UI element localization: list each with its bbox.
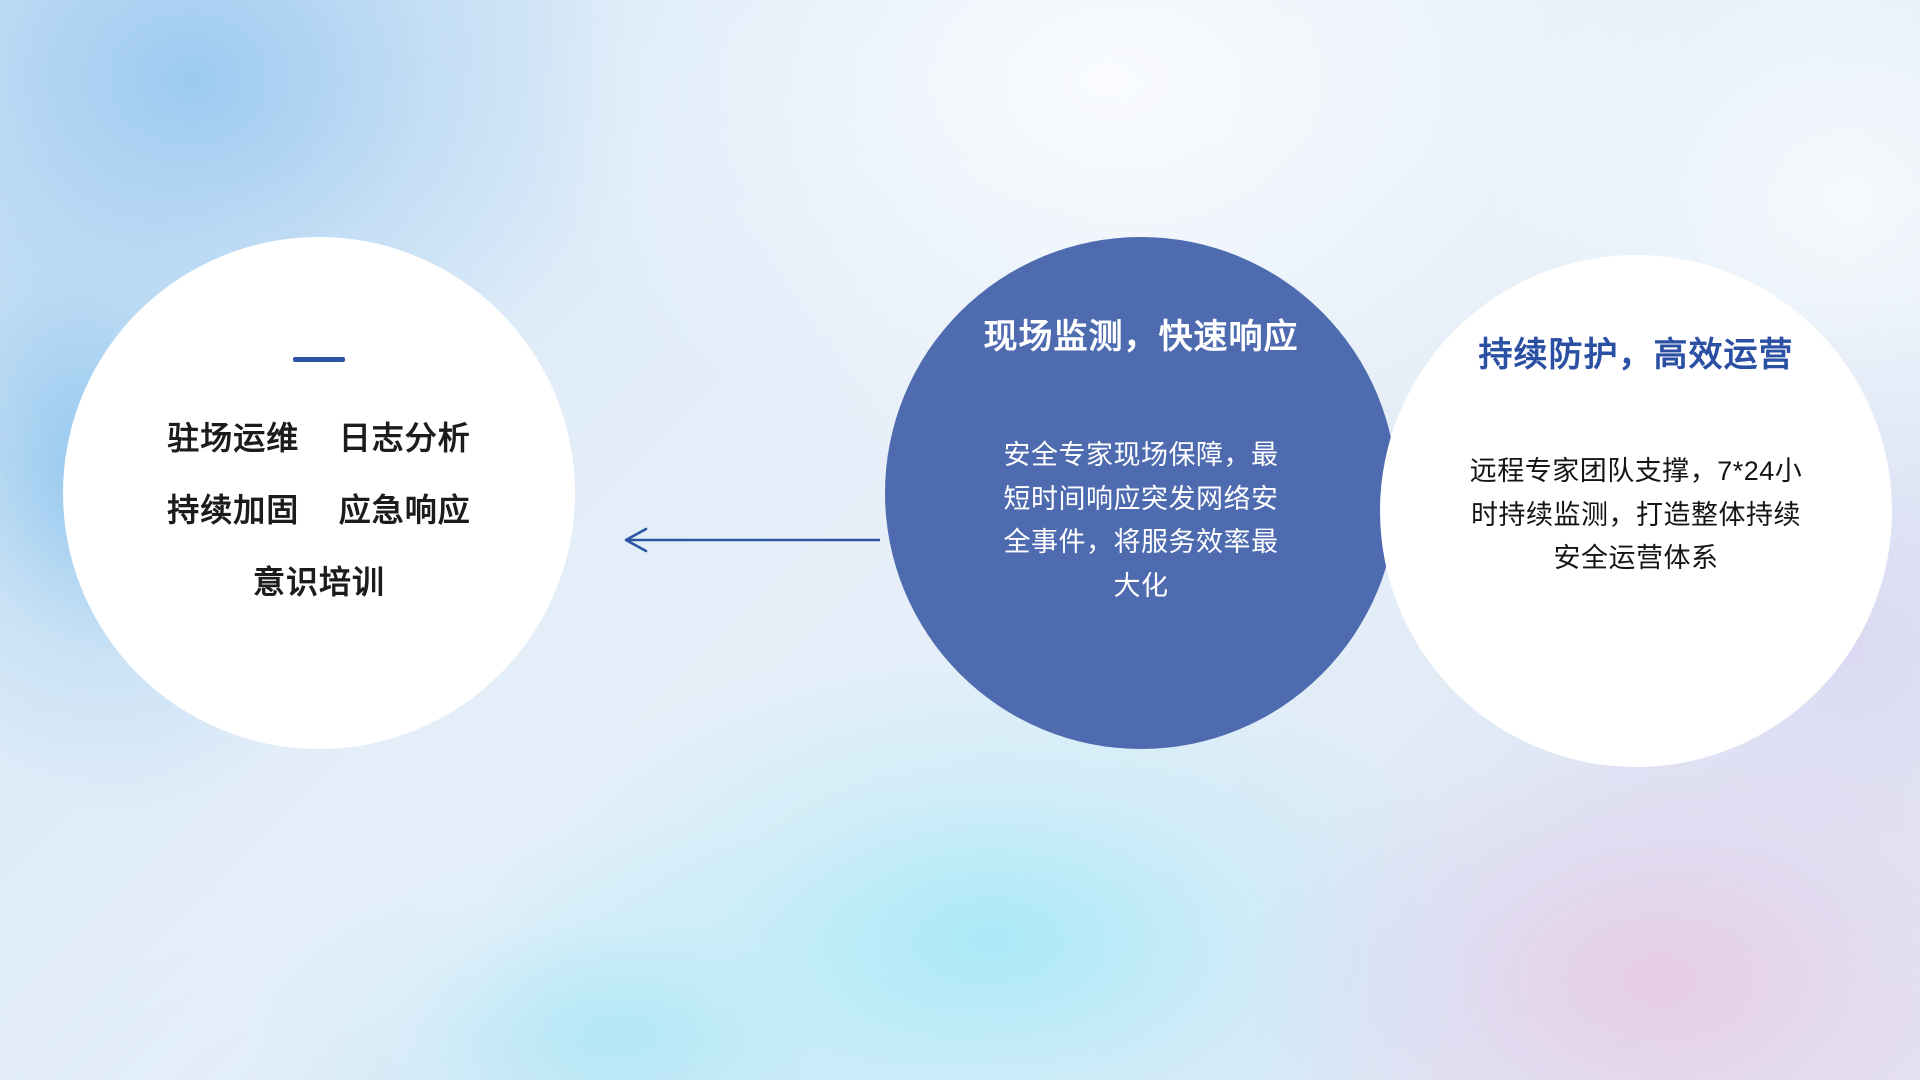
circle-capabilities[interactable]: 驻场运维 日志分析 持续加固 应急响应 意识培训 [63,237,575,749]
capability-line-3: 意识培训 [253,566,385,598]
background-glow-cyan-left [240,820,1000,1080]
connector-arrow-icon [612,520,882,560]
background-glow-cyan-center [480,640,1500,1080]
continuous-protection-body: 远程专家团队支撑，7*24小时持续监测，打造整体持续安全运营体系 [1460,450,1812,581]
continuous-protection-title: 持续防护，高效运营 [1479,327,1794,376]
onsite-monitoring-title: 现场监测，快速响应 [984,309,1299,358]
circle-continuous-protection[interactable]: 持续防护，高效运营 远程专家团队支撑，7*24小时持续监测，打造整体持续安全运营… [1380,255,1892,767]
capability-line-1: 驻场运维 日志分析 [167,422,471,454]
accent-dash-icon [293,357,345,362]
capability-line-2: 持续加固 应急响应 [167,494,471,526]
background-glow-bottom-haze [0,900,1300,1080]
circle-onsite-monitoring[interactable]: 现场监测，快速响应 安全专家现场保障，最短时间响应突发网络安全事件，将服务效率最… [885,237,1397,749]
onsite-monitoring-body: 安全专家现场保障，最短时间响应突发网络安全事件，将服务效率最大化 [991,434,1291,609]
slide-canvas: 驻场运维 日志分析 持续加固 应急响应 意识培训 现场监测，快速响应 安全专家现… [0,0,1920,1080]
